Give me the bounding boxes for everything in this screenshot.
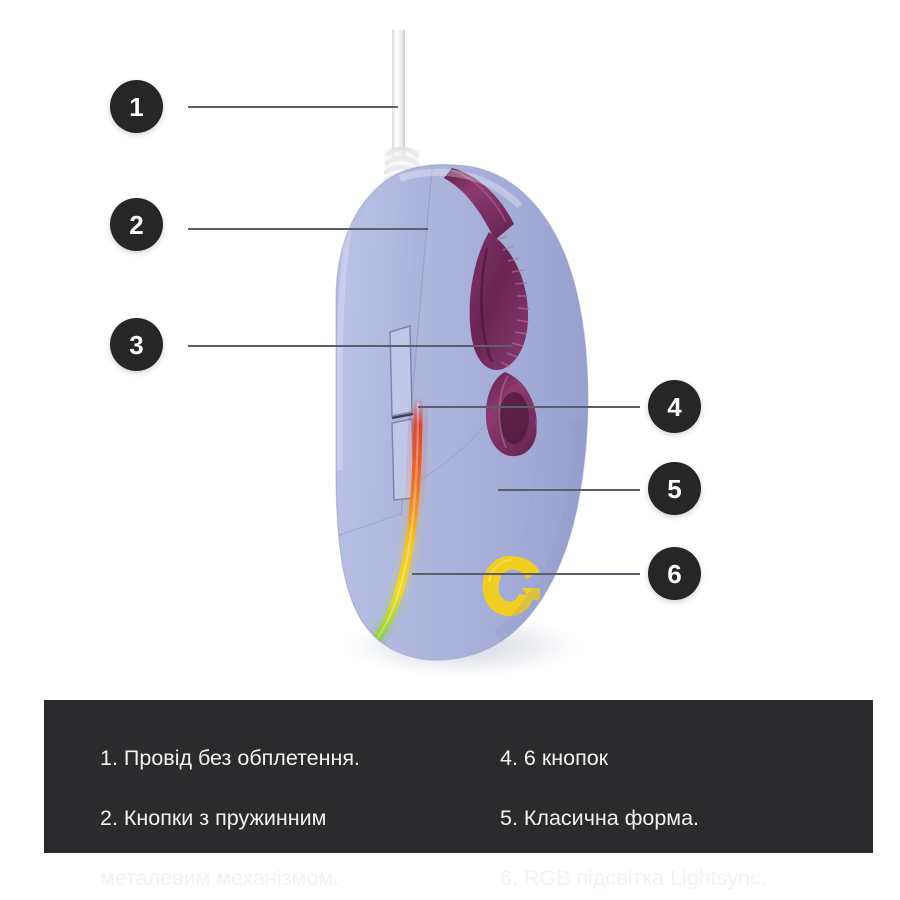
caption-column-right: 4. 6 кнопок 5. Класична форма. 6. RGB пі… [500, 713, 767, 900]
callout-badge-3[interactable]: 3 [110, 318, 163, 371]
callout-badge-4[interactable]: 4 [648, 380, 701, 433]
leader-line-5 [498, 489, 640, 491]
infographic-canvas: 1 2 3 4 5 6 1. Провід без обплетення. 2.… [0, 0, 900, 900]
caption-panel: 1. Провід без обплетення. 2. Кнопки з пр… [44, 700, 873, 853]
caption-column-left: 1. Провід без обплетення. 2. Кнопки з пр… [100, 713, 361, 900]
mouse-cable [392, 30, 405, 160]
leader-line-2 [188, 228, 428, 230]
callout-badge-6[interactable]: 6 [648, 547, 701, 600]
caption-line-4: 4. 6 кнопок [500, 743, 767, 773]
accent-inner-shade [499, 392, 529, 444]
leader-line-4 [418, 406, 640, 408]
caption-line-2b: металевим механізмом. [100, 863, 361, 893]
leader-line-6 [412, 573, 640, 575]
caption-line-6: 6. RGB підсвітка Lightsync. [500, 863, 767, 893]
callout-badge-2[interactable]: 2 [110, 198, 163, 251]
leader-line-3 [188, 345, 513, 347]
leader-line-1 [188, 106, 398, 108]
callout-badge-1[interactable]: 1 [110, 80, 163, 133]
caption-line-5: 5. Класична форма. [500, 803, 767, 833]
callout-badge-5[interactable]: 5 [648, 462, 701, 515]
caption-line-2: 2. Кнопки з пружинним [100, 803, 361, 833]
caption-line-1: 1. Провід без обплетення. [100, 743, 361, 773]
